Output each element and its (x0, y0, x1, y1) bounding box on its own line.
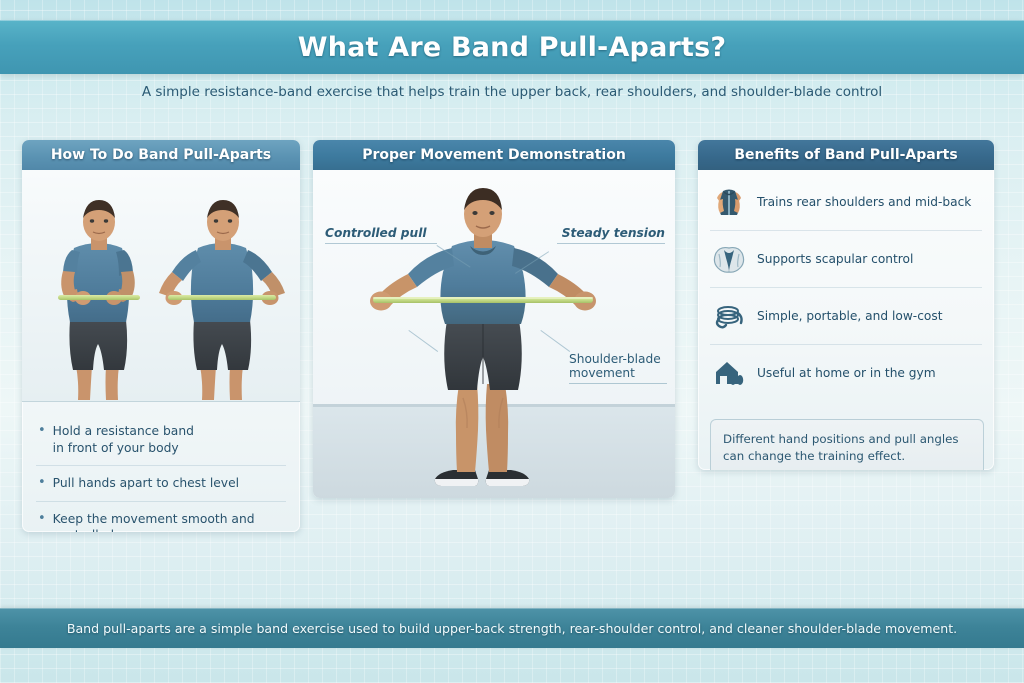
how-to-figure-area (22, 170, 300, 402)
torso-shirt (440, 240, 525, 324)
bullet-marker: • (38, 511, 46, 532)
annotation-underline (569, 383, 667, 384)
annotation-label: Controlled pull (325, 226, 437, 240)
back-muscles-icon (712, 186, 746, 218)
annotation-label: Shoulder-blade movement (569, 352, 667, 380)
two-figures-illustration (22, 170, 300, 402)
benefit-label: Useful at home or in the gym (757, 366, 936, 380)
demonstration-figure-area: Controlled pull Steady tension Shoulder-… (313, 170, 675, 498)
benefit-label: Supports scapular control (757, 252, 913, 266)
bullet-marker: • (38, 475, 46, 492)
list-item: Useful at home or in the gym (710, 344, 982, 401)
resistance-band-coil-icon (712, 300, 746, 332)
title-banner: What Are Band Pull-Aparts? (0, 20, 1024, 74)
benefits-panel: Benefits of Band Pull-Aparts Trains rear… (698, 140, 994, 470)
list-item: Supports scapular control (710, 230, 982, 287)
bullet-text: Pull hands apart to chest level (53, 475, 239, 492)
bullet-marker: • (38, 423, 46, 456)
footer-text: Band pull-aparts are a simple band exerc… (67, 621, 957, 636)
list-item: Trains rear shoulders and mid-back (710, 174, 982, 230)
page-subtitle: A simple resistance-band exercise that h… (0, 84, 1024, 100)
annotation-controlled-pull: Controlled pull (325, 226, 437, 244)
annotation-shoulder-blade-movement: Shoulder-blade movement (569, 352, 667, 384)
band-pull-apart-demonstration-figure (313, 170, 675, 498)
benefits-list: Trains rear shoulders and mid-back Suppo… (698, 170, 994, 409)
infographic-root: What Are Band Pull-Aparts? A simple resi… (0, 0, 1024, 683)
page-title: What Are Band Pull-Aparts? (298, 32, 727, 63)
how-to-panel-heading: How To Do Band Pull-Aparts (22, 140, 300, 170)
bullet-text: Keep the movement smooth and controlled (53, 511, 284, 532)
shorts (444, 320, 522, 390)
annotation-steady-tension: Steady tension (557, 226, 665, 244)
benefit-label: Trains rear shoulders and mid-back (757, 195, 971, 209)
demonstration-panel-heading: Proper Movement Demonstration (313, 140, 675, 170)
benefit-label: Simple, portable, and low-cost (757, 309, 942, 323)
annotation-underline (325, 243, 437, 244)
bullet-text: Hold a resistance band in front of your … (53, 423, 194, 456)
benefits-note: Different hand positions and pull angles… (710, 419, 984, 470)
scapula-icon (712, 243, 746, 275)
how-to-panel: How To Do Band Pull-Aparts (22, 140, 300, 532)
list-item: • Pull hands apart to chest level (36, 465, 286, 501)
benefits-panel-heading: Benefits of Band Pull-Aparts (698, 140, 994, 170)
how-to-bullet-list: • Hold a resistance band in front of you… (22, 402, 300, 532)
annotation-label: Steady tension (557, 226, 665, 240)
home-gym-icon (712, 357, 746, 389)
footer-banner: Band pull-aparts are a simple band exerc… (0, 608, 1024, 648)
list-item: • Keep the movement smooth and controlle… (36, 501, 286, 532)
annotation-underline (557, 243, 665, 244)
list-item: • Hold a resistance band in front of you… (36, 414, 286, 465)
demonstration-panel: Proper Movement Demonstration (313, 140, 675, 498)
list-item: Simple, portable, and low-cost (710, 287, 982, 344)
